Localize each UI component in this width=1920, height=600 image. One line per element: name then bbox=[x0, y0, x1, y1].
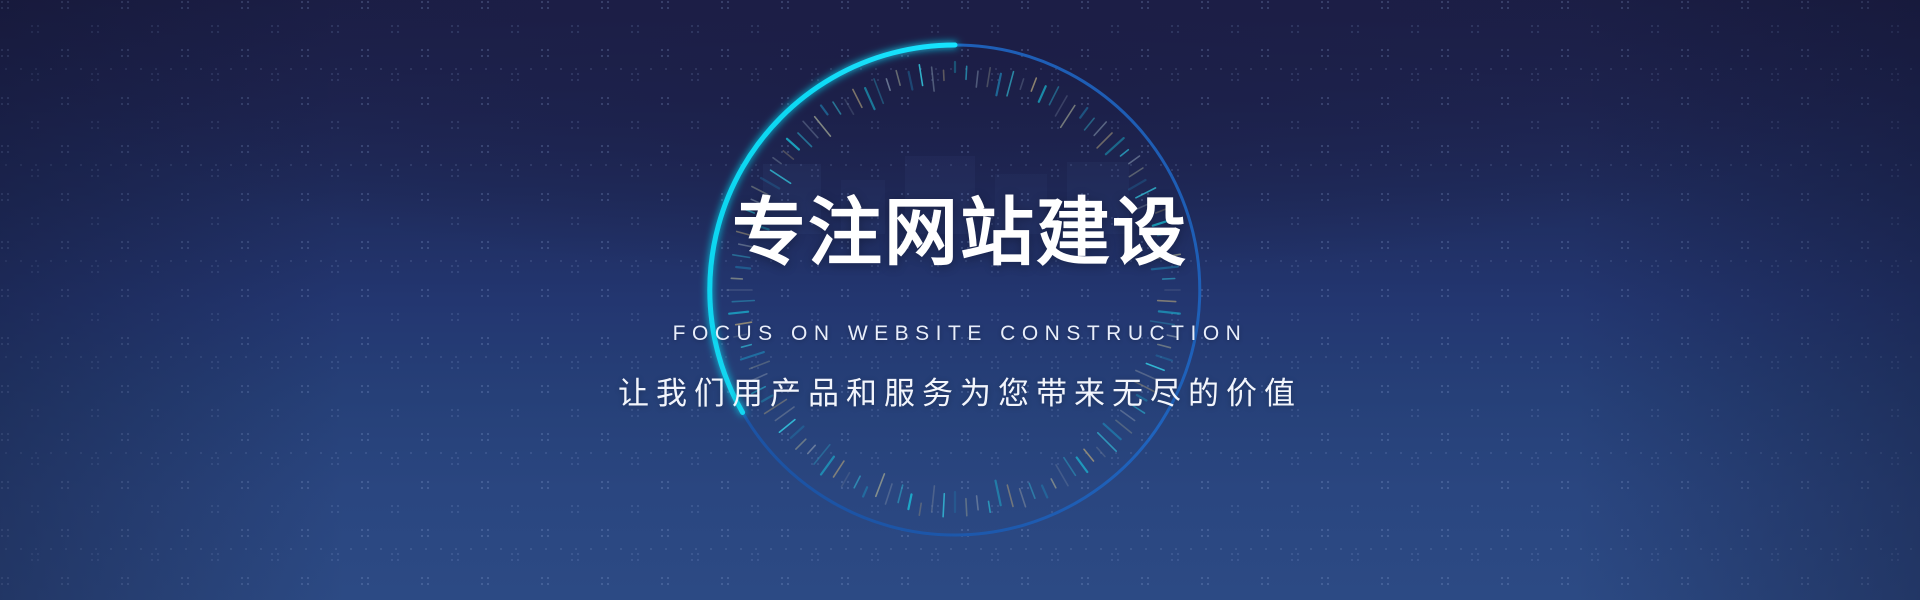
ring-arc-blue bbox=[743, 45, 1200, 535]
page-title: 专注网站建设 bbox=[0, 196, 1920, 270]
ghost-blocks-decoration bbox=[745, 150, 1175, 240]
dot-row-pattern bbox=[0, 0, 1920, 600]
dot-grid-pattern bbox=[0, 0, 1920, 600]
hero-banner: 专注网站建设 FOCUS ON WEBSITE CONSTRUCTION 让我们… bbox=[0, 0, 1920, 600]
banner-subtitle: FOCUS ON WEBSITE CONSTRUCTION bbox=[0, 322, 1920, 346]
tech-circle-ring bbox=[645, 0, 1265, 600]
banner-tagline: 让我们用产品和服务为您带来无尽的价值 bbox=[0, 368, 1920, 413]
ring-tick-marks bbox=[727, 62, 1180, 517]
ring-arc-cyan bbox=[710, 45, 955, 413]
edge-vignette bbox=[0, 0, 1920, 600]
dot-grid-pattern-offset bbox=[0, 0, 1920, 600]
